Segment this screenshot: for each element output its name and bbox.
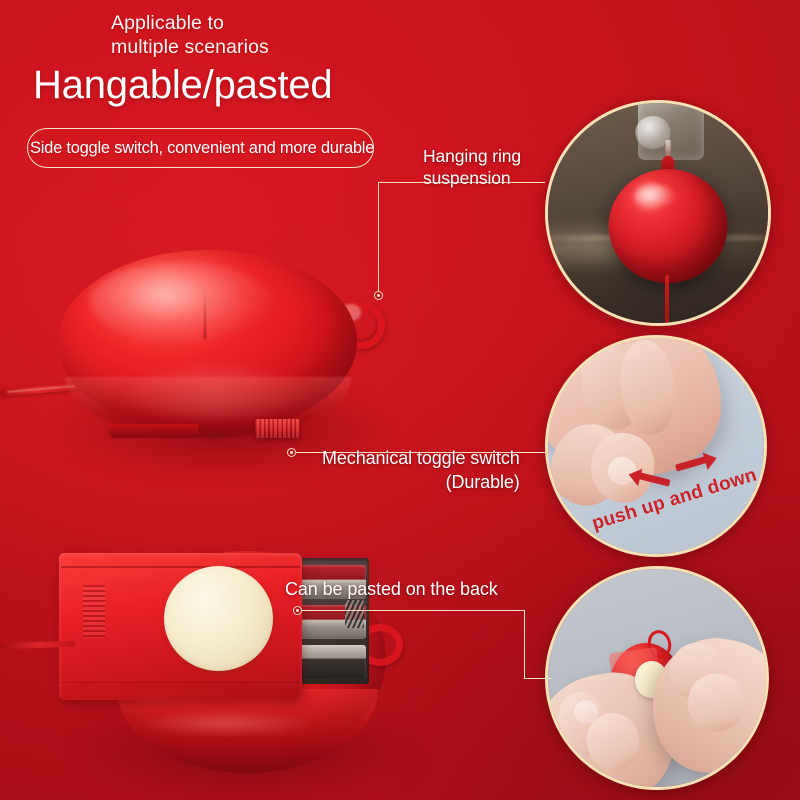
- callout-dot-toggle-switch: [287, 448, 296, 457]
- leader-line-hanging-vertical: [378, 182, 379, 295]
- callout-label-toggle-switch-main: Mechanical toggle switch: [322, 448, 520, 468]
- product-front-foot: [109, 424, 197, 438]
- fingernail: [574, 700, 598, 724]
- product-marketing-image: push up and down Applicable to mu: [0, 0, 800, 800]
- mechanical-toggle-switch: [255, 419, 299, 438]
- photo-hanging-ring-suspension: [545, 100, 771, 326]
- leader-line-adhesive-vertical: [524, 610, 525, 679]
- eyebrow-text: Applicable to multiple scenarios: [111, 12, 451, 60]
- leader-line-adhesive-horizontal-1: [302, 610, 525, 611]
- callout-label-toggle-switch-sub: (Durable): [322, 471, 520, 494]
- page-title: Hangable/pasted: [33, 63, 332, 108]
- battery-cover-groove-bottom: [61, 682, 300, 684]
- subtitle-text: Side toggle switch, convenient and more …: [30, 139, 390, 158]
- leader-line-adhesive-horizontal-2: [524, 678, 552, 679]
- callout-dot-adhesive-back: [293, 606, 302, 615]
- photo-push-toggle-switch: push up and down: [545, 335, 767, 557]
- battery-spring-contact: [345, 600, 363, 628]
- toggle-switch-ribs: [255, 419, 299, 438]
- product-front-specular-highlight: [89, 262, 273, 342]
- device-hanging-cord: [665, 275, 669, 326]
- product-back-view: [25, 527, 445, 789]
- callout-label-toggle-switch: Mechanical toggle switch (Durable): [322, 424, 520, 518]
- photo-adhesive-pad-peel: [545, 566, 769, 790]
- product-back-rim-highlight: [138, 710, 314, 736]
- callout-dot-hanging-ring: [374, 291, 383, 300]
- photo-hanging-content: [548, 103, 768, 323]
- battery-cover-groove-top: [61, 566, 300, 568]
- photo-toggle-content: push up and down: [548, 338, 764, 554]
- callout-label-adhesive-back: Can be pasted on the back: [285, 578, 498, 600]
- product-front-seam-line: [204, 288, 205, 340]
- callout-label-hanging-ring: Hanging ring suspension: [423, 146, 521, 189]
- photo-adhesive-content: [548, 569, 766, 787]
- adhesive-pad: [164, 566, 273, 671]
- red-round-device: [608, 169, 727, 283]
- device-specular-highlight: [635, 184, 675, 209]
- battery-cover-grip-ribs: [83, 585, 105, 638]
